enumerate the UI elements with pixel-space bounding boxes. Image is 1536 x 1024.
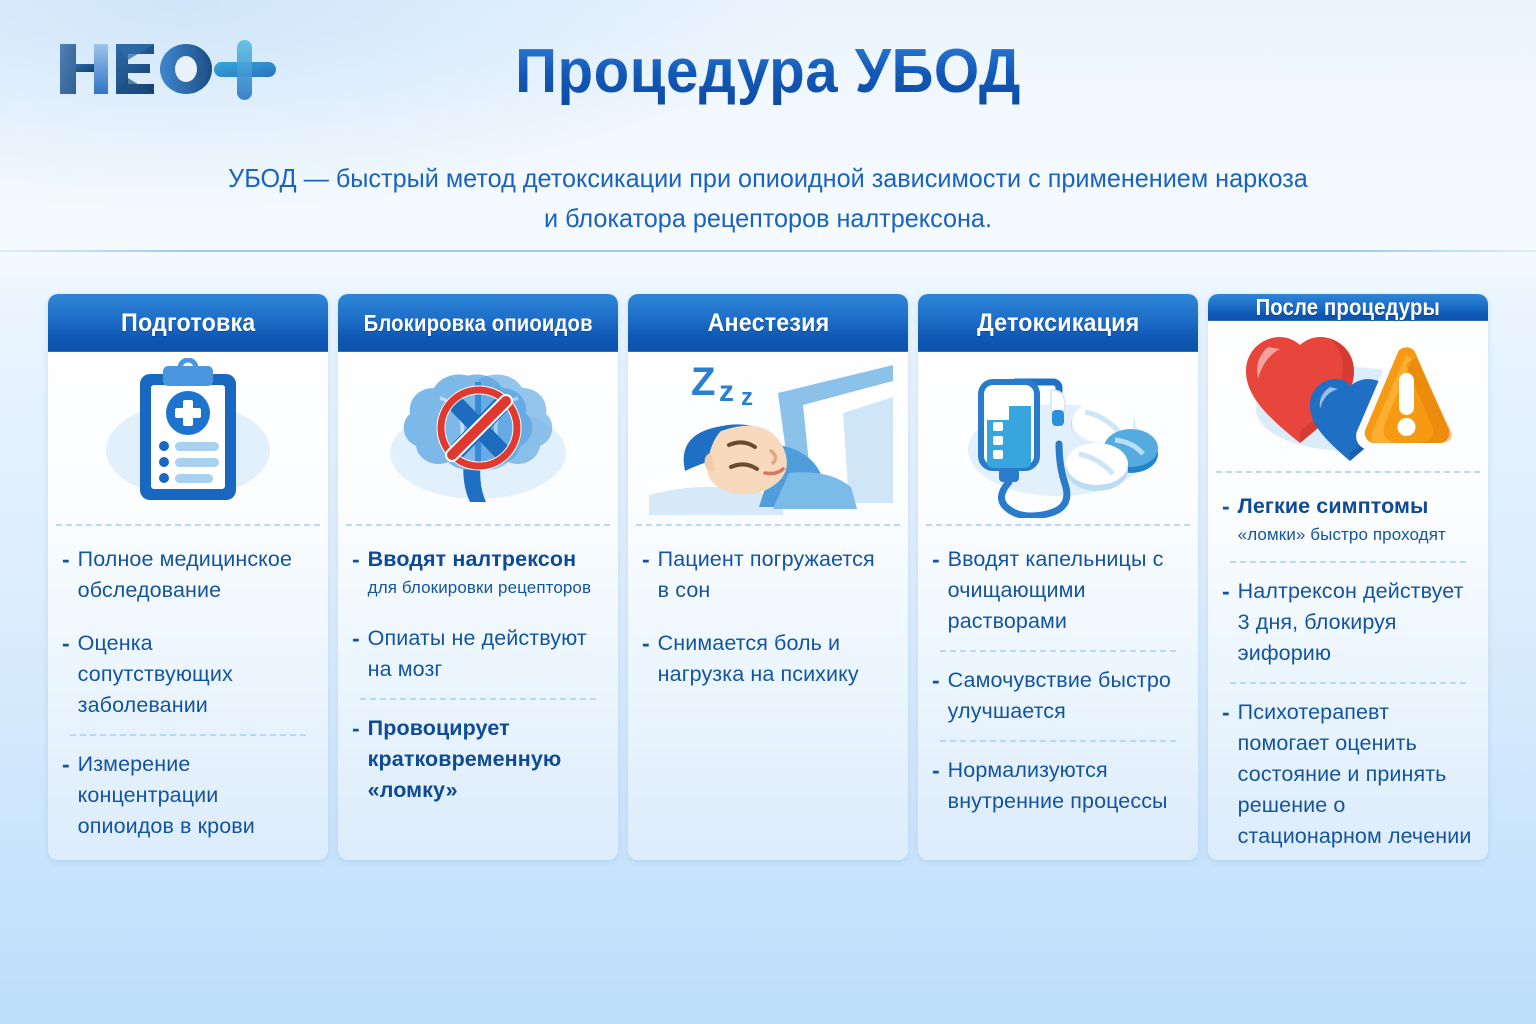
- step-body-detoxification: - Вводят капельницы с очищающими раствор…: [918, 526, 1198, 860]
- list-item-text: Полное медицинское обследование: [78, 544, 312, 606]
- bullet-group: - Нормализуются внутренние процессы: [932, 755, 1182, 817]
- list-item: - Измерение концентрации опиоидов в кров…: [62, 749, 312, 842]
- bullet-group: - Провоцирует кратковременную «ломку»: [352, 713, 602, 806]
- step-header-label: Блокировка опиоидов: [363, 310, 592, 337]
- bullet-group: - Полное медицинское обследование - Оцен…: [62, 544, 312, 721]
- bullet-group: - Вводят капельницы с очищающими раствор…: [932, 544, 1182, 637]
- step-card-opioid-blocking[interactable]: Блокировка опиоидов: [338, 294, 618, 860]
- bullet-group: - Психотерапевт помогает оценить состоян…: [1222, 697, 1472, 852]
- step-header-opioid-blocking: Блокировка опиоидов: [338, 294, 618, 352]
- list-item-text: Налтрексон действует 3 дня, блокируя эиф…: [1238, 576, 1472, 669]
- list-item-text: Снимается боль и нагрузка на психику: [658, 628, 892, 690]
- list-item: - Вводят налтрексон для блокировки рецеп…: [352, 544, 602, 601]
- group-divider: [1230, 561, 1466, 563]
- list-item-text: Психотерапевт помогает оценить состояние…: [1238, 697, 1472, 852]
- bullet-dash: -: [932, 755, 948, 817]
- step-card-after-procedure[interactable]: После процедуры: [1208, 294, 1488, 860]
- bullet-dash: -: [352, 544, 368, 601]
- list-item-text: Вводят налтрексон для блокировки рецепто…: [368, 544, 591, 601]
- step-header-label: После процедуры: [1256, 294, 1440, 321]
- page-subtitle-line-2: и блокатора рецепторов налтрексона.: [181, 198, 1355, 238]
- step-header-anesthesia: Анестезия: [628, 294, 908, 352]
- step-header-label: Подготовка: [121, 309, 255, 338]
- bullet-dash: -: [352, 623, 368, 685]
- list-item-text: Самочувствие быстро улучшается: [948, 665, 1182, 727]
- list-item-text: Легкие симптомы «ломки» быстро проходят: [1238, 491, 1446, 548]
- bullet-dash: -: [62, 544, 78, 606]
- bullet-group: - Самочувствие быстро улучшается: [932, 665, 1182, 727]
- brain-blocked-icon: [338, 352, 618, 524]
- list-item-text: Нормализуются внутренние процессы: [948, 755, 1182, 817]
- list-item: - Самочувствие быстро улучшается: [932, 665, 1182, 727]
- list-item-text: Пациент погружается в сон: [658, 544, 892, 606]
- page-title: Процедура УБОД: [46, 36, 1490, 107]
- step-body-opioid-blocking: - Вводят налтрексон для блокировки рецеп…: [338, 526, 618, 860]
- step-header-detoxification: Детоксикация: [918, 294, 1198, 352]
- svg-text:Z: Z: [691, 360, 715, 404]
- list-item-lead: Легкие симптомы: [1238, 494, 1429, 518]
- list-item-lead: Вводят налтрексон: [368, 547, 576, 571]
- svg-text:z: z: [741, 384, 753, 411]
- step-header-after-procedure: После процедуры: [1208, 294, 1488, 321]
- bullet-dash: -: [642, 628, 658, 690]
- page-subtitle: УБОД — быстрый метод детоксикации при оп…: [181, 158, 1355, 238]
- list-item: - Налтрексон действует 3 дня, блокируя э…: [1222, 576, 1472, 669]
- bullet-dash: -: [352, 713, 368, 806]
- group-divider: [940, 740, 1176, 742]
- bullet-dash: -: [1222, 576, 1238, 669]
- bullet-dash: -: [1222, 491, 1238, 548]
- list-item: - Снимается боль и нагрузка на психику: [642, 628, 892, 690]
- step-header-label: Анестезия: [707, 309, 829, 338]
- step-card-detoxification[interactable]: Детоксикация: [918, 294, 1198, 860]
- list-item: - Психотерапевт помогает оценить состоян…: [1222, 697, 1472, 852]
- step-body-anesthesia: - Пациент погружается в сон - Снимается …: [628, 526, 908, 860]
- list-item-text: Оценка сопутствующих заболевании: [78, 628, 312, 721]
- list-item: - Полное медицинское обследование: [62, 544, 312, 606]
- step-header-preparation: Подготовка: [48, 294, 328, 352]
- step-body-after-procedure: - Легкие симптомы «ломки» быстро проходя…: [1208, 473, 1488, 860]
- step-body-preparation: - Полное медицинское обследование - Оцен…: [48, 526, 328, 860]
- list-item: - Вводят капельницы с очищающими раствор…: [932, 544, 1182, 637]
- iv-drip-pills-icon: [918, 352, 1198, 524]
- list-item: - Легкие симптомы «ломки» быстро проходя…: [1222, 491, 1472, 548]
- list-item: - Нормализуются внутренние процессы: [932, 755, 1182, 817]
- group-divider: [70, 734, 306, 736]
- list-item: - Пациент погружается в сон: [642, 544, 892, 606]
- list-item-text: Опиаты не действуют на мозг: [368, 623, 602, 685]
- step-card-anesthesia[interactable]: Анестезия Z z z: [628, 294, 908, 860]
- svg-text:z: z: [719, 375, 734, 408]
- step-header-label: Детоксикация: [977, 309, 1139, 338]
- bullet-dash: -: [932, 544, 948, 637]
- group-divider: [940, 650, 1176, 652]
- list-item-text: Провоцирует кратковременную «ломку»: [368, 713, 602, 806]
- header-divider: [0, 250, 1536, 252]
- infographic-page: Процедура УБОД УБОД — быстрый метод дето…: [0, 0, 1536, 1024]
- bullet-group: - Вводят налтрексон для блокировки рецеп…: [352, 544, 602, 685]
- list-item: - Провоцирует кратковременную «ломку»: [352, 713, 602, 806]
- bullet-group: - Налтрексон действует 3 дня, блокируя э…: [1222, 576, 1472, 669]
- group-divider: [1230, 682, 1466, 684]
- steps-row: Подготовка: [48, 294, 1488, 860]
- list-item: - Оценка сопутствующих заболевании: [62, 628, 312, 721]
- step-card-preparation[interactable]: Подготовка: [48, 294, 328, 860]
- page-header: Процедура УБОД УБОД — быстрый метод дето…: [0, 0, 1536, 250]
- list-item-text: Вводят капельницы с очищающими растворам…: [948, 544, 1182, 637]
- bullet-group: - Измерение концентрации опиоидов в кров…: [62, 749, 312, 842]
- sleeping-patient-icon: Z z z: [628, 352, 908, 524]
- list-item: - Опиаты не действуют на мозг: [352, 623, 602, 685]
- bullet-group: - Пациент погружается в сон - Снимается …: [642, 544, 892, 690]
- hearts-warning-icon: [1208, 321, 1488, 471]
- list-item-subtext: для блокировки рецепторов: [368, 575, 591, 601]
- bullet-dash: -: [932, 665, 948, 727]
- page-subtitle-line-1: УБОД — быстрый метод детоксикации при оп…: [181, 158, 1355, 198]
- bullet-dash: -: [62, 749, 78, 842]
- clipboard-medical-icon: [48, 352, 328, 524]
- bullet-dash: -: [642, 544, 658, 606]
- bullet-group: - Легкие симптомы «ломки» быстро проходя…: [1222, 491, 1472, 548]
- list-item-subtext: «ломки» быстро проходят: [1238, 522, 1446, 548]
- group-divider: [360, 698, 596, 700]
- bullet-dash: -: [62, 628, 78, 721]
- list-item-text: Измерение концентрации опиоидов в крови: [78, 749, 312, 842]
- bullet-dash: -: [1222, 697, 1238, 852]
